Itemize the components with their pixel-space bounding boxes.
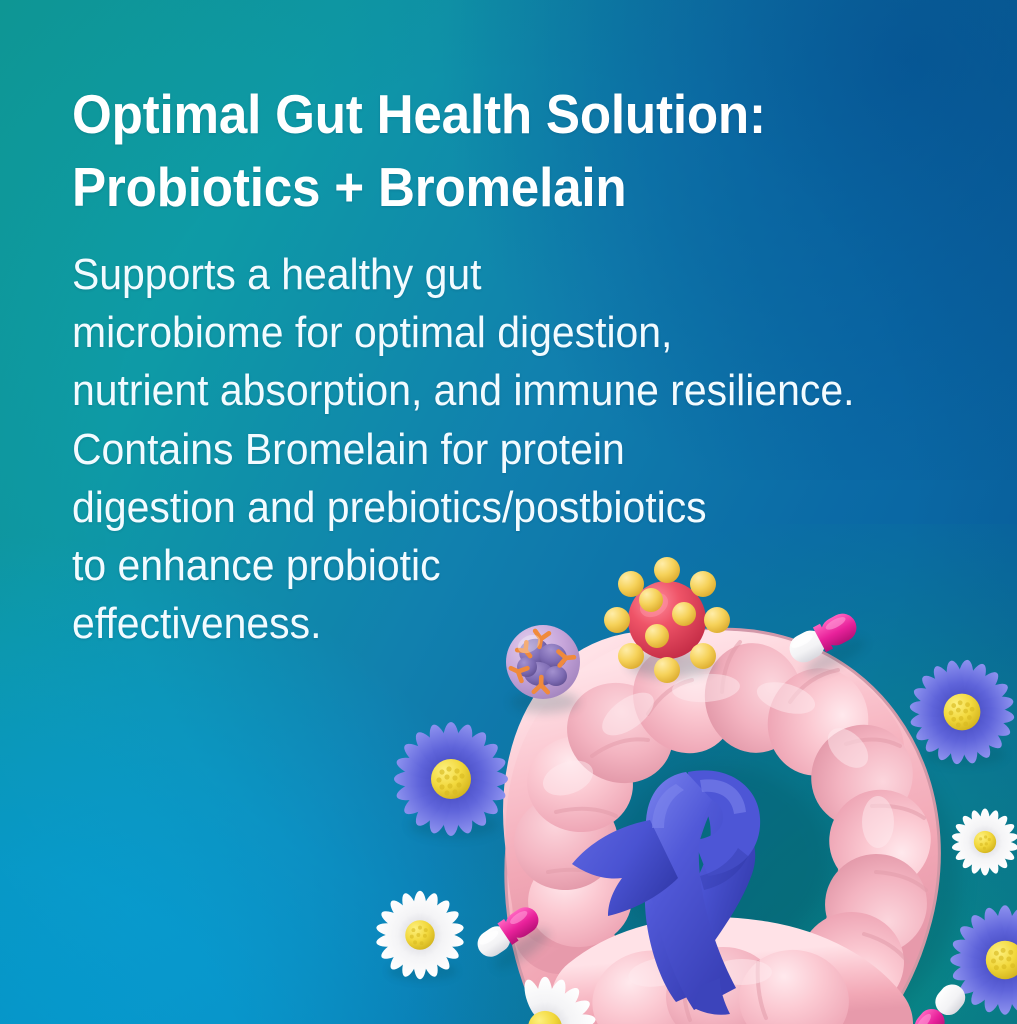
flower-white-left xyxy=(375,891,464,981)
subcopy-line-1: Supports a healthy gut xyxy=(72,246,909,304)
subcopy-line-3: nutrient absorption, and immune resilien… xyxy=(72,362,909,420)
flower-white-right xyxy=(951,809,1017,876)
gut-health-poster: Optimal Gut Health Solution: Probiotics … xyxy=(0,0,1017,1024)
subcopy-line-6: to enhance probiotic xyxy=(72,537,909,595)
subcopy-line-2: microbiome for optimal digestion, xyxy=(72,304,909,362)
subcopy-line-7: effectiveness. xyxy=(72,595,909,653)
flower-purple-left xyxy=(394,722,508,838)
subcopy-line-5: digestion and prebiotics/postbiotics xyxy=(72,479,909,537)
page-title: Optimal Gut Health Solution: Probiotics … xyxy=(72,78,909,224)
subcopy-line-4: Contains Bromelain for protein xyxy=(72,421,909,479)
headline-line-1: Optimal Gut Health Solution: xyxy=(72,78,909,151)
description-text: Supports a healthy gut microbiome for op… xyxy=(72,246,909,653)
headline-line-2: Probiotics + Bromelain xyxy=(72,151,909,224)
copy-block: Optimal Gut Health Solution: Probiotics … xyxy=(72,78,972,653)
flower-purple-right xyxy=(909,659,1015,766)
